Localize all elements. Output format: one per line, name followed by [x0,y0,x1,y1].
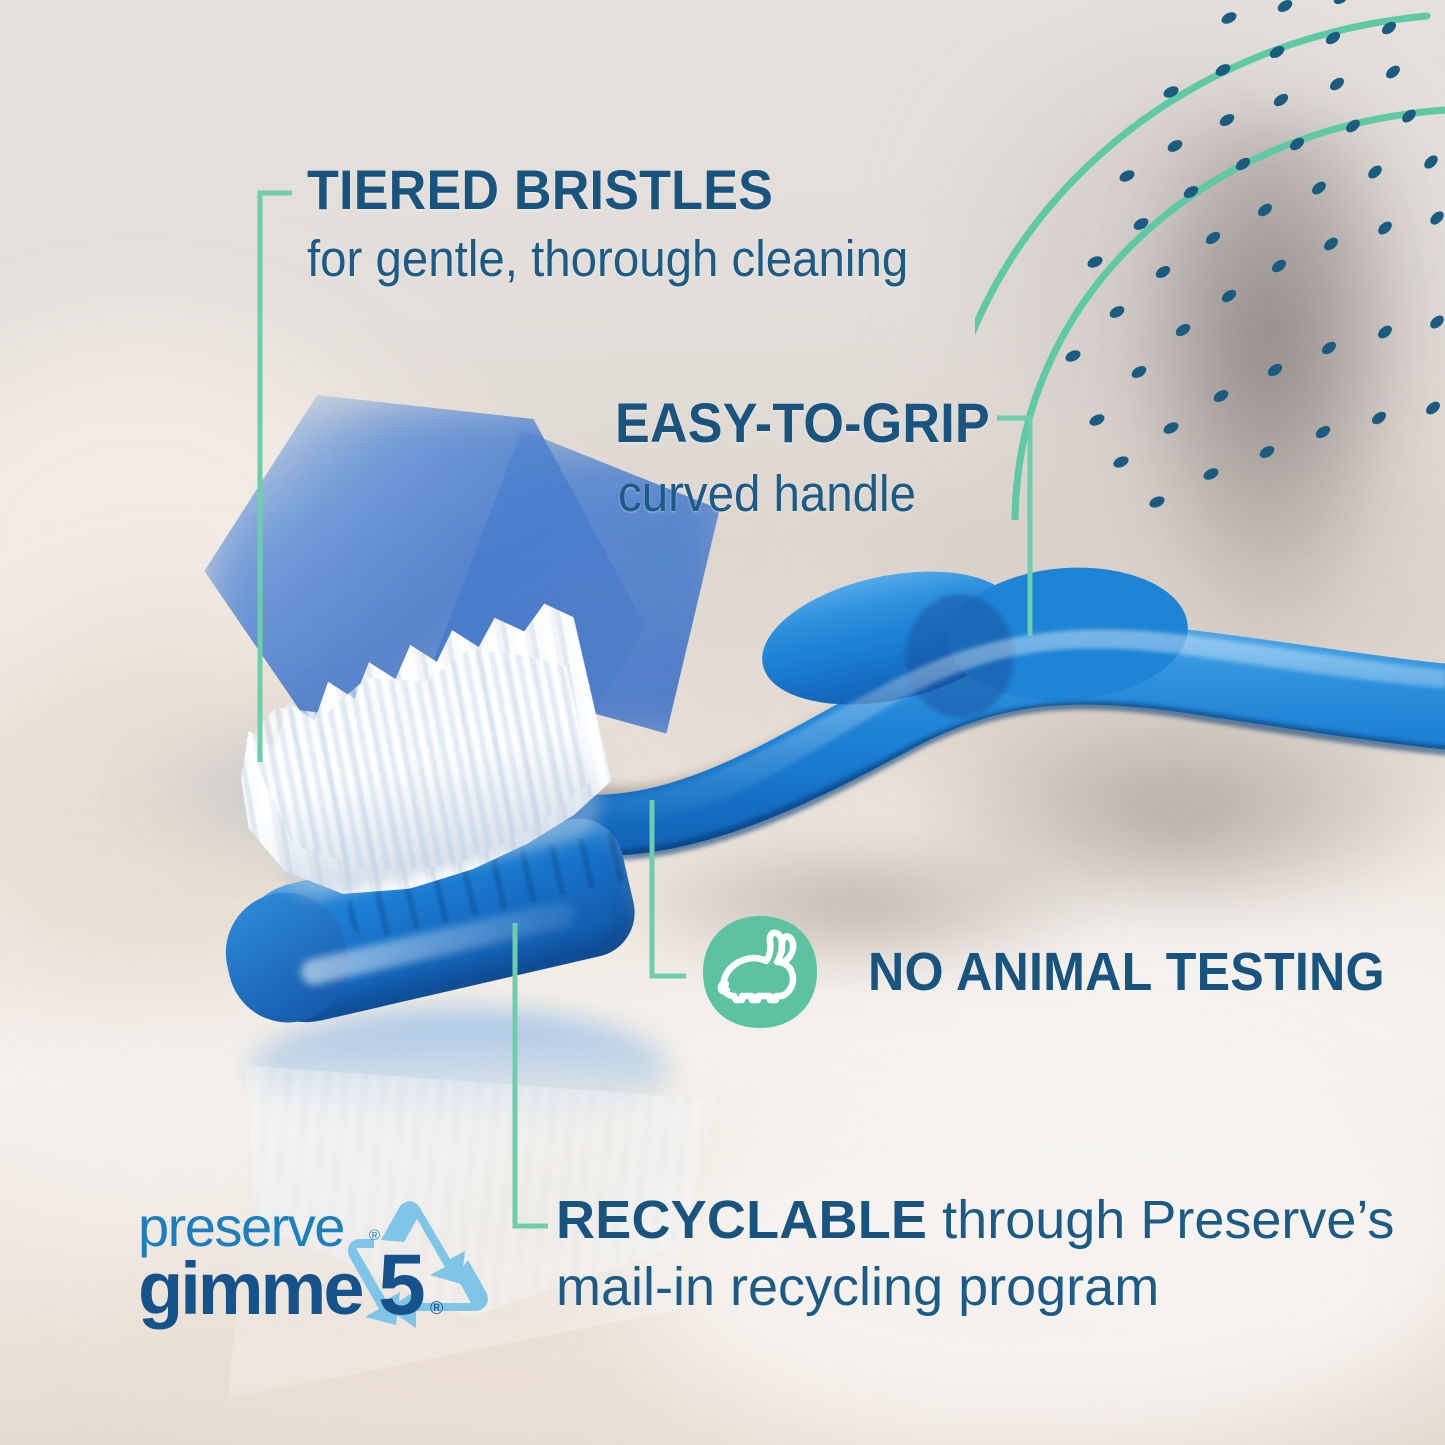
rabbit-icon [700,912,820,1032]
callout-line-2: mail-in recycling program [556,1259,1394,1316]
callout-heading: EASY-TO-GRIP [615,395,990,451]
callout-line-1-rest: through Preserve’s [927,1190,1394,1250]
logo-word-gimme: gimme [138,1247,362,1330]
product-infographic: TIERED BRISTLES for gentle, thorough cle… [0,0,1445,1445]
preserve-gimme-5-logo: preserve ® gimme 5 ® [138,1196,498,1336]
callout-no-animal-testing: NO ANIMAL TESTING [700,912,1424,1032]
callout-tiered-bristles: TIERED BRISTLES for gentle, thorough cle… [307,162,953,286]
callout-heading: TIERED BRISTLES [307,162,908,218]
callout-easy-to-grip: EASY-TO-GRIP curved handle [615,395,1018,521]
badge-background [703,916,817,1028]
callout-heading: RECYCLABLE [556,1190,927,1250]
callout-subheading: for gentle, thorough cleaning [307,232,908,286]
toothbrush-handle [560,560,1445,890]
logo-numeral-5: 5 [378,1237,426,1333]
callout-line-1: RECYCLABLE through Preserve’s [556,1192,1394,1249]
callout-heading: NO ANIMAL TESTING [868,945,1385,999]
callout-subheading: curved handle [618,467,990,521]
callout-subheading: mail-in recycling program [556,1257,1159,1317]
logo-numeral-registered-mark: ® [430,1298,443,1318]
callout-recyclable: RECYCLABLE through Preserve’s mail-in re… [556,1192,1394,1316]
